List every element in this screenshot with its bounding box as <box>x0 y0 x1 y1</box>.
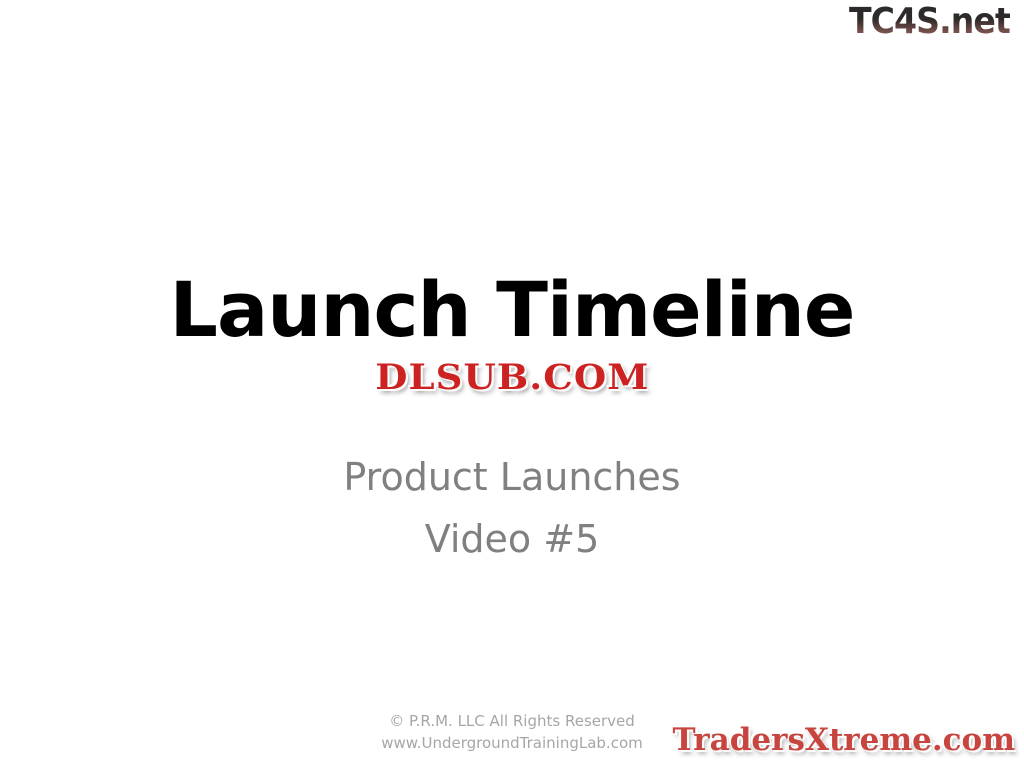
subtitle-area: Product Launches Video #5 <box>0 446 1024 570</box>
tc4s-watermark: TC4S.net <box>849 4 1010 40</box>
page-title: Launch Timeline <box>0 268 1024 352</box>
title-area: Launch Timeline <box>0 268 1024 352</box>
dlsub-watermark: DLSUB.COM <box>0 358 1024 398</box>
tradersxtreme-logo: TradersXtreme.com <box>672 722 1015 758</box>
subtitle-line-product-launches: Product Launches <box>0 446 1024 508</box>
presentation-slide: TC4S.net Launch Timeline DLSUB.COM Produ… <box>0 0 1024 768</box>
subtitle-line-video-number: Video #5 <box>0 508 1024 570</box>
dlsub-watermark-text: DLSUB.COM <box>375 358 649 398</box>
